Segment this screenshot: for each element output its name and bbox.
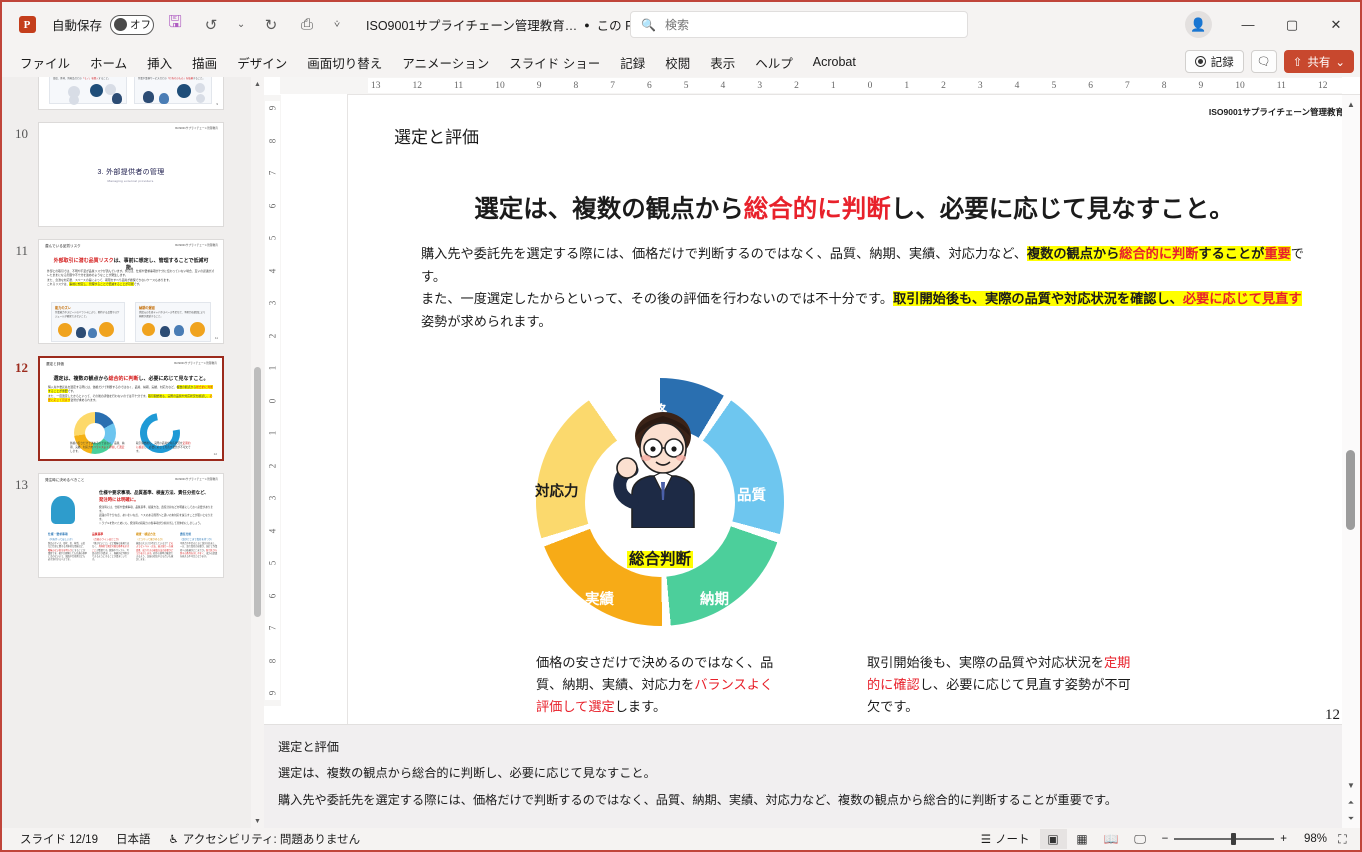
thumb-page-number: 11 [215, 336, 218, 340]
ruler-tick: 7 [1125, 81, 1130, 91]
notes-line-2: 選定は、複数の観点から総合的に判断し、必要に応じて見なすこと。 [278, 761, 1328, 785]
language-indicator[interactable]: 日本語 [116, 831, 151, 847]
notes-pane[interactable]: 選定と評価 選定は、複数の観点から総合的に判断し、必要に応じて見なすこと。 購入… [264, 724, 1342, 828]
tab-record[interactable]: 記録 [610, 49, 655, 76]
chevron-down-icon: ⌄ [1335, 55, 1345, 69]
slide-page-number: 12 [1325, 707, 1340, 724]
vruler-tick: 8 [268, 658, 278, 663]
search-box[interactable]: 🔍 [630, 11, 968, 38]
notes-icon: ☰ [981, 832, 991, 846]
maximize-button[interactable]: ▢ [1270, 2, 1314, 47]
continuous-review-diagram[interactable]: ✓ [848, 95, 1360, 738]
vruler-tick: 4 [268, 268, 278, 273]
vruler-tick: 9 [268, 691, 278, 696]
donut-label-track-record: 実績 [585, 588, 614, 609]
thumb-card-left: 能力のズレ 作業能力やスピードのバラツキにより、期待する品質やスケジュールが確保… [51, 302, 125, 342]
thumbnail-row-12[interactable]: 12 ISO9001サプライチェーン管理教育 選定と評価 選定は、複数の観点から… [2, 350, 251, 467]
accessibility-icon: ♿ [168, 832, 178, 846]
zoom-in-button[interactable]: + [1280, 833, 1287, 845]
ruler-tick: 5 [1051, 81, 1056, 91]
ruler-tick: 2 [794, 81, 799, 91]
toggle-knob [114, 18, 127, 31]
minimize-button[interactable]: — [1226, 2, 1270, 47]
vruler-tick: 6 [268, 203, 278, 208]
autosave-state: オフ [130, 17, 151, 32]
tab-acrobat[interactable]: Acrobat [803, 51, 866, 73]
scroll-up-icon[interactable]: ▲ [251, 77, 264, 91]
tab-file[interactable]: ファイル [10, 49, 80, 76]
share-icon: ⇧ [1293, 55, 1303, 69]
horizontal-ruler[interactable]: 13 12 11 10 9 8 7 6 5 4 3 2 1 0 1 2 3 4 … [280, 77, 1342, 94]
notes-label: ノート [995, 831, 1030, 847]
tab-transitions[interactable]: 画面切り替え [297, 49, 392, 76]
record-button[interactable]: 記録 [1185, 50, 1244, 73]
slide-content[interactable]: ISO9001サプライチェーン管理教育 選定と評価 選定は、複数の観点から総合的… [348, 95, 1360, 738]
redo-icon[interactable]: ↻ [256, 10, 286, 40]
document-title: ISO9001サプライチェーン管理教育… [366, 15, 577, 34]
thumb-center-title: 3. 外部提供者の管理 [39, 167, 223, 177]
thumb-title: 選定と評価 [46, 362, 64, 367]
vruler-tick: 9 [268, 106, 278, 111]
vruler-tick: 2 [268, 463, 278, 468]
scroll-up-icon[interactable]: ▲ [1342, 95, 1360, 113]
thumb-instructor-illustration [51, 496, 75, 524]
thumb-card-left: 購入 部品、素材、消耗品などの「モノ」を購入すること。 [49, 77, 127, 104]
thumbnail-row-9[interactable]: 9 ISO9001サプライチェーン管理教育 「購入」と「委託」の違い 作業方法や… [2, 77, 251, 116]
ruler-tick: 8 [1162, 81, 1167, 91]
vruler-tick: 7 [268, 626, 278, 631]
donut-diagram-group[interactable]: 価格 品質 納期 実績 対応力 [348, 95, 848, 738]
tab-draw[interactable]: 描画 [182, 49, 227, 76]
save-icon[interactable]: 🖫 [160, 10, 190, 40]
share-button[interactable]: ⇧ 共有 ⌄ [1284, 50, 1354, 73]
cap-left-l3r: 選定 [588, 699, 614, 714]
vruler-tick: 8 [268, 138, 278, 143]
tab-design[interactable]: デザイン [227, 49, 297, 76]
title-bar: P 自動保存 オフ 🖫 ↺ ⌄ ↻ ⎙ ⩒ ISO9001サプライチェーン管理教… [2, 2, 1360, 47]
ruler-tick: 4 [1015, 81, 1020, 91]
thumb-page-number: 12 [214, 452, 217, 456]
ruler-tick: 8 [573, 81, 578, 91]
ruler-tick: 11 [1277, 81, 1286, 91]
close-button[interactable]: ✕ [1314, 2, 1358, 47]
ruler-tick: 6 [1088, 81, 1093, 91]
window-controls: 👤 — ▢ ✕ [1185, 2, 1360, 47]
comment-icon[interactable]: 🗨 [1251, 50, 1277, 73]
caption-left[interactable]: 価格の安さだけで決めるのではなく、品質、納期、実績、対応力をバランスよく評価して… [536, 652, 786, 718]
status-bar-right: ☰ ノート ▣ ▦ 📖 🖵 − + 98% ⛶ [981, 829, 1356, 849]
slide-editor-area: 13 12 11 10 9 8 7 6 5 4 3 2 1 0 1 2 3 4 … [264, 77, 1360, 828]
vruler-tick: 7 [268, 171, 278, 176]
record-icon [1195, 56, 1206, 67]
cap-right-l1: 取引開始後も、実際の品質や対応状況を [867, 655, 1104, 670]
slide-sorter-icon[interactable]: ▦ [1069, 829, 1096, 849]
thumbnail-number: 13 [2, 473, 32, 493]
ruler-tick: 1 [904, 81, 909, 91]
ruler-tick: 12 [1318, 81, 1328, 91]
caption-right[interactable]: 取引開始後も、実際の品質や対応状況を定期的に確認し、必要に応じて見直す姿勢が不可… [867, 652, 1137, 718]
ruler-tick: 3 [757, 81, 762, 91]
previous-slide-icon[interactable]: ▼ [1342, 776, 1360, 794]
notes-line-3: 購入先や委託先を選定する際には、価格だけで判断するのではなく、品質、納期、実績、… [278, 788, 1328, 812]
powerpoint-window: P 自動保存 オフ 🖫 ↺ ⌄ ↻ ⎙ ⩒ ISO9001サプライチェーン管理教… [0, 0, 1362, 852]
tab-view[interactable]: 表示 [700, 49, 745, 76]
thumbnail-row-11[interactable]: 11 ISO9001サプライチェーン管理教育 潜んでいる品質リスク 外部取引に潜… [2, 233, 251, 350]
accessibility-status[interactable]: ♿ アクセシビリティ: 問題ありません [168, 831, 360, 847]
thumbnail-slide-11[interactable]: ISO9001サプライチェーン管理教育 潜んでいる品質リスク 外部取引に潜む品質… [38, 239, 224, 344]
tab-slideshow[interactable]: スライド ショー [499, 49, 610, 76]
undo-dropdown-icon[interactable]: ⌄ [232, 10, 250, 40]
thumb-headline: 選定は、複数の観点から総合的に判断し、必要に応じて見なすこと。 [50, 375, 212, 382]
ruler-tick: 7 [610, 81, 615, 91]
thumbnail-row-10[interactable]: 10 ISO9001サプライチェーン管理教育 3. 外部提供者の管理 Manag… [2, 116, 251, 233]
more-commands-icon[interactable]: ⩒ [328, 10, 346, 40]
slideshow-icon[interactable]: 🖵 [1127, 829, 1154, 849]
thumb-body: 購入先や委託先を選定する際には、価格だけで判断するのではなく、品質、納期、実績、… [48, 385, 214, 402]
vruler-scale: 9 8 7 6 5 4 3 2 1 0 1 2 3 4 5 6 7 8 9 [265, 101, 280, 700]
ruler-tick: 10 [495, 81, 505, 91]
slide-counter[interactable]: スライド 12/19 [20, 831, 98, 847]
slide-canvas[interactable]: ISO9001サプライチェーン管理教育 選定と評価 選定は、複数の観点から総合的… [348, 95, 1360, 738]
ruler-tick: 5 [684, 81, 689, 91]
notes-button[interactable]: ☰ ノート [981, 831, 1030, 847]
accessibility-label: アクセシビリティ: 問題ありません [183, 831, 360, 847]
notes-line-1: 選定と評価 [278, 735, 1328, 759]
vruler-tick: 5 [268, 236, 278, 241]
tab-animations[interactable]: アニメーション [392, 49, 499, 76]
normal-view-icon[interactable]: ▣ [1040, 829, 1067, 849]
vruler-tick: 4 [268, 528, 278, 533]
present-icon[interactable]: ⎙ [292, 10, 322, 40]
thumb-title: 潜んでいる品質リスク [45, 244, 81, 249]
tab-help[interactable]: ヘルプ [745, 49, 803, 76]
donut-center-label: 総合判断 [536, 547, 784, 569]
fit-slide-icon[interactable]: ⛶ [1329, 829, 1356, 849]
person-illustration-left [606, 410, 716, 528]
ruler-tick: 0 [868, 81, 873, 91]
donut-label-delivery: 納期 [700, 588, 729, 609]
ruler-tick: 3 [978, 81, 983, 91]
zoom-slider[interactable]: − + [1162, 833, 1287, 845]
autosave-label: 自動保存 [52, 15, 102, 34]
vruler-tick: 1 [268, 366, 278, 371]
record-label: 記録 [1211, 54, 1234, 70]
thumb-card-right: 委託 作業や業務サービスなどの「行為そのもの」を依頼すること。 [134, 77, 212, 104]
vertical-ruler[interactable]: 9 8 7 6 5 4 3 2 1 0 1 2 3 4 5 6 7 8 9 [264, 95, 281, 706]
slide-thumbnail-pane[interactable]: 9 ISO9001サプライチェーン管理教育 「購入」と「委託」の違い 作業方法や… [2, 77, 251, 828]
thumbnail-slide-10[interactable]: ISO9001サプライチェーン管理教育 3. 外部提供者の管理 Managing… [38, 122, 224, 227]
thumb-header: ISO9001サプライチェーン管理教育 [175, 126, 218, 130]
thumb-page-number: 9 [216, 102, 218, 106]
tab-review[interactable]: 校閲 [655, 49, 700, 76]
bullet-separator: ● [584, 20, 589, 30]
thumbnail-scrollbar[interactable]: ▲ ▼ [251, 77, 264, 828]
ruler-tick: 9 [537, 81, 542, 91]
thumbnail-slide-9[interactable]: ISO9001サプライチェーン管理教育 「購入」と「委託」の違い 作業方法や管理… [38, 77, 224, 110]
thumbnail-number: 11 [2, 239, 32, 259]
ruler-tick: 4 [721, 81, 726, 91]
zoom-out-button[interactable]: − [1162, 833, 1169, 845]
vruler-tick: 1 [268, 431, 278, 436]
cap-left-l2a: 納期、実績、対応力を [562, 677, 694, 692]
thumb-header: ISO9001サプライチェーン管理教育 [175, 477, 218, 481]
vruler-tick: 0 [268, 398, 278, 403]
zoom-level[interactable]: 98% [1295, 833, 1327, 845]
scrollbar-thumb[interactable] [254, 367, 261, 617]
vruler-tick: 3 [268, 301, 278, 306]
search-icon: 🔍 [641, 18, 656, 32]
zoom-handle[interactable] [1231, 833, 1236, 845]
status-bar: スライド 12/19 日本語 ♿ アクセシビリティ: 問題ありません ☰ ノート… [2, 828, 1360, 850]
tab-insert[interactable]: 挿入 [137, 49, 182, 76]
undo-icon[interactable]: ↺ [196, 10, 226, 40]
ruler-tick: 9 [1199, 81, 1204, 91]
thumb-body: 外部との取引では、不明や不足が品質リスクが潜んでいます。例えば、仕様や要求事項が… [47, 269, 215, 286]
thumbnail-row-13[interactable]: 13 ISO9001サプライチェーン管理教育 発注時に決めるべきこと 仕様や要求… [2, 467, 251, 584]
ribbon-right-group: 記録 🗨 ⇧ 共有 ⌄ [1185, 50, 1354, 73]
ruler-tick: 13 [371, 81, 381, 91]
vruler-tick: 6 [268, 593, 278, 598]
reading-view-icon[interactable]: 📖 [1098, 829, 1125, 849]
thumb-header: ISO9001サプライチェーン管理教育 [174, 361, 217, 365]
editor-scrollbar[interactable]: ▲ ▼ ⏶ ⏷ [1342, 95, 1360, 828]
donut-label-quality: 品質 [737, 484, 766, 505]
donut-label-responsiveness: 対応力 [535, 480, 579, 501]
scrollbar-thumb[interactable] [1346, 450, 1355, 530]
thumbnail-number: 10 [2, 122, 32, 142]
thumb-header: ISO9001サプライチェーン管理教育 [175, 243, 218, 247]
ribbon-tabs: ファイル ホーム 挿入 描画 デザイン 画面切り替え アニメーション スライド … [2, 47, 1360, 77]
ruler-tick: 6 [647, 81, 652, 91]
cap-left-l3a: します。 [615, 699, 666, 714]
tab-home[interactable]: ホーム [80, 49, 137, 76]
ruler-tick: 11 [454, 81, 463, 91]
ruler-tick: 2 [941, 81, 946, 91]
ruler-tick: 1 [831, 81, 836, 91]
thumb-headline: 仕様や要求事項、品質基準、検査方法、責任分担など、発注時には明確に。 [99, 490, 215, 503]
ruler-tick: 10 [1235, 81, 1245, 91]
autosave-toggle[interactable]: オフ [110, 15, 154, 35]
thumb-center-subtitle: Managing external providers. [39, 179, 223, 183]
powerpoint-icon: P [14, 12, 40, 38]
ruler-tick: 12 [413, 81, 423, 91]
page-down-icon[interactable]: ⏷ [1342, 810, 1360, 828]
scroll-down-icon[interactable]: ▼ [251, 814, 264, 828]
vruler-tick: 2 [268, 333, 278, 338]
share-label: 共有 [1307, 54, 1330, 70]
thumbnail-number: 12 [2, 356, 32, 376]
thumb-card-right: 納期の遅延 供給元の生産キャパやスペース不足など、予期せぬ要因により納期が遅延す… [135, 302, 211, 342]
vruler-tick: 3 [268, 496, 278, 501]
thumb-body: 発注時には、仕様や要求事項、品質基準、検査方法、責任分担などを明確にしておく必要… [99, 506, 215, 526]
search-input[interactable] [665, 18, 925, 32]
ruler-scale: 13 12 11 10 9 8 7 6 5 4 3 2 1 0 1 2 3 4 … [368, 78, 1362, 93]
thumbnail-slide-13[interactable]: ISO9001サプライチェーン管理教育 発注時に決めるべきこと 仕様や要求事項、… [38, 473, 224, 578]
zoom-track[interactable] [1174, 838, 1274, 840]
thumb-title: 発注時に決めるべきこと [45, 478, 85, 483]
thumbnail-slide-12[interactable]: ISO9001サプライチェーン管理教育 選定と評価 選定は、複数の観点から総合的… [38, 356, 224, 461]
vruler-tick: 5 [268, 561, 278, 566]
cap-right-l2a: し、必要に応じて見直す姿勢 [920, 677, 1091, 692]
account-avatar[interactable]: 👤 [1185, 11, 1212, 38]
